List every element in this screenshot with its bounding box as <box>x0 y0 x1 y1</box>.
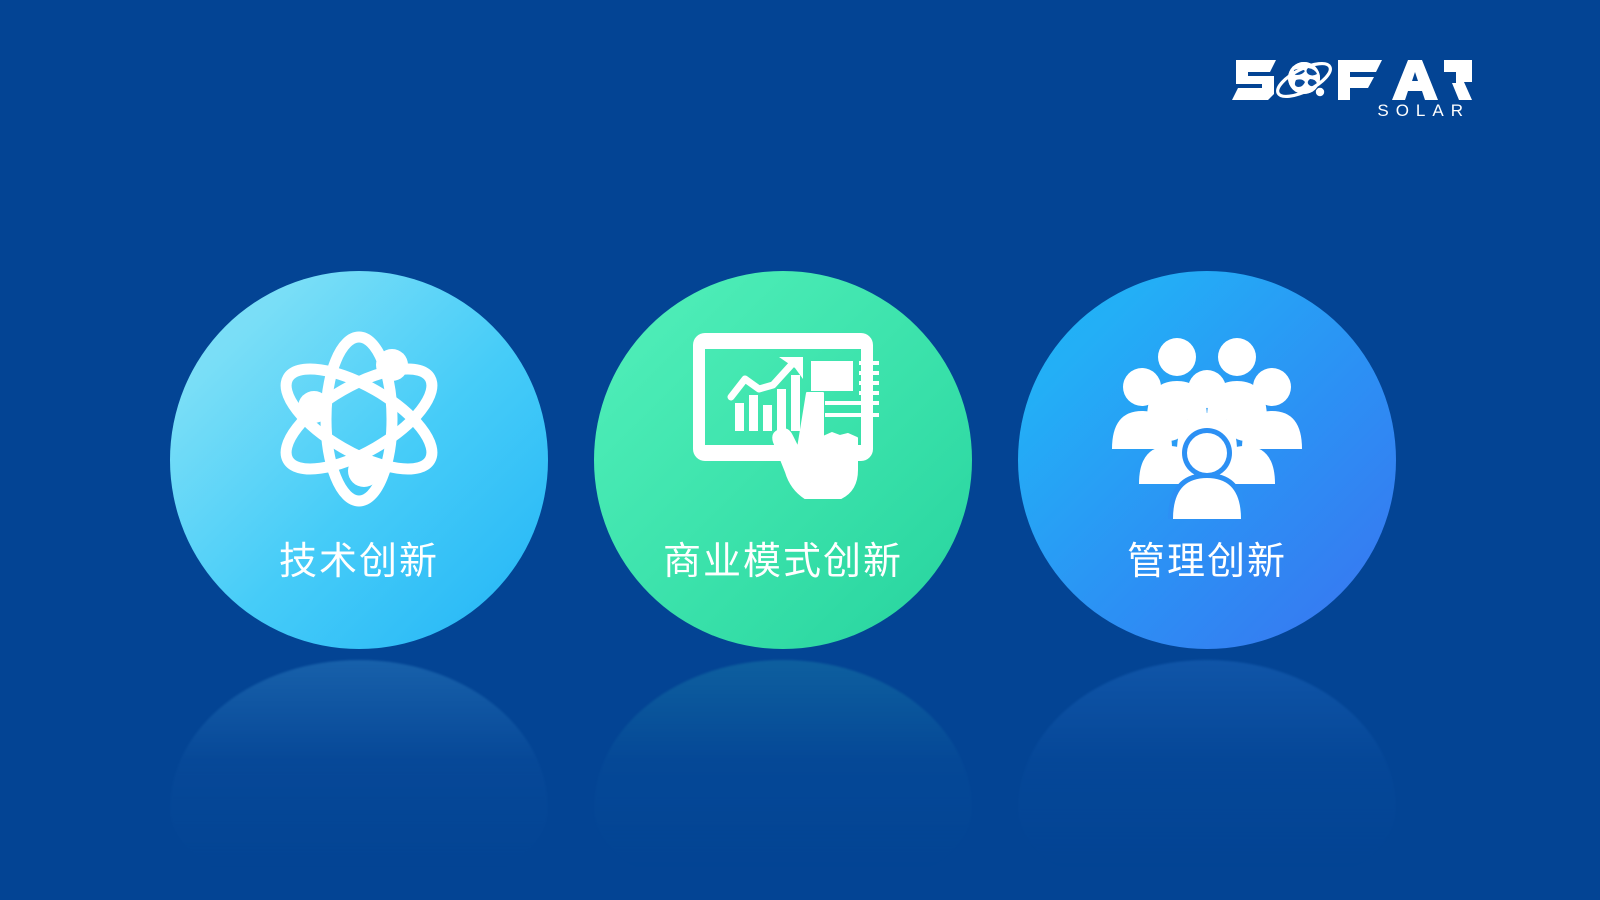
people-group-icon <box>1107 319 1307 519</box>
card-label-management: 管理创新 <box>1018 539 1396 587</box>
card-label-business: 商业模式创新 <box>594 539 972 587</box>
card-management-innovation[interactable]: 管理创新 <box>1018 271 1396 649</box>
tablet-analytics-touch-icon <box>683 319 883 519</box>
card-label-technology: 技术创新 <box>170 539 548 587</box>
innovation-cards-row: 技术创新 <box>0 0 1600 900</box>
card-business-model-innovation[interactable]: 商业模式创新 <box>594 271 972 649</box>
atom-icon <box>259 319 459 519</box>
card-technology-innovation[interactable]: 技术创新 <box>170 271 548 649</box>
